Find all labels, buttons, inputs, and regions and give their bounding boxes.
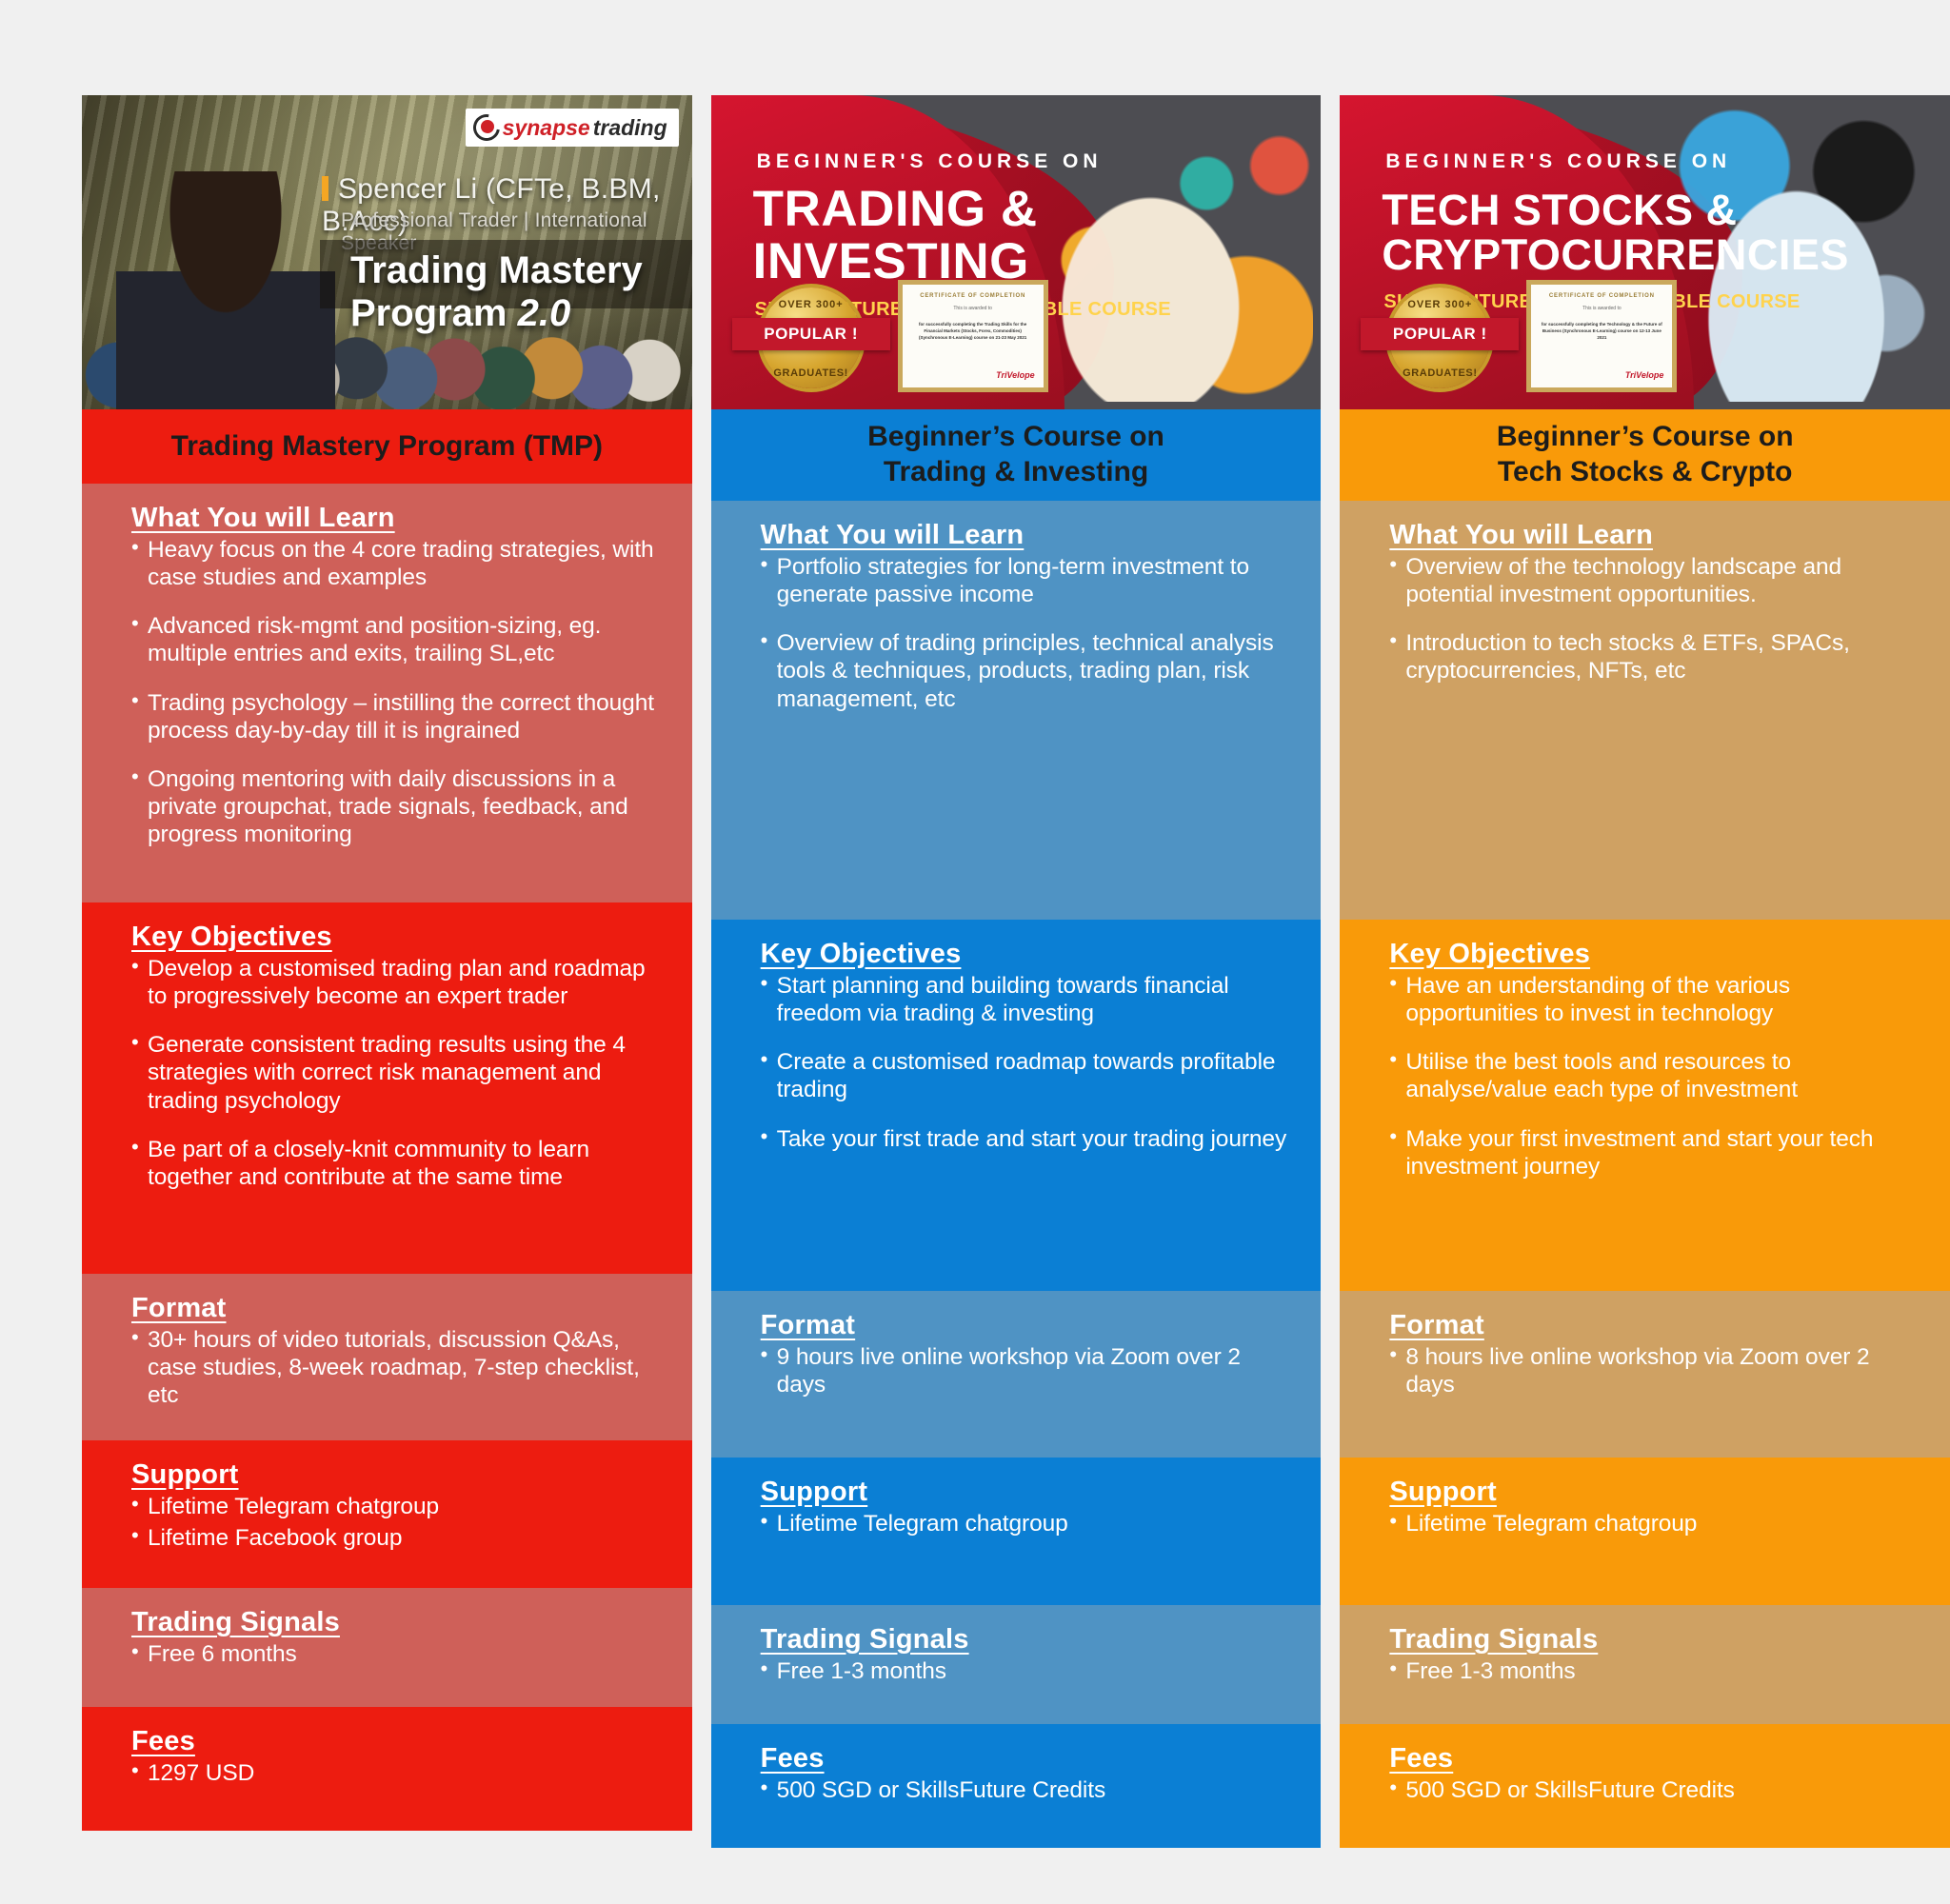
certificate-thumbnail: CERTIFICATE OF COMPLETIONThis is awarded…	[1526, 280, 1677, 392]
program-version: 2.0	[518, 292, 571, 334]
section-bullet-item: 500 SGD or SkillsFuture Credits	[761, 1776, 1293, 1804]
banner-heading-line-2: CRYPTOCURRENCIES	[1382, 233, 1849, 278]
certificate-body: for successfully completing the Technolo…	[1539, 322, 1664, 341]
section-heading: Trading Signals	[761, 1624, 1293, 1656]
section-heading: Trading Signals	[1389, 1624, 1921, 1656]
section-heading: Fees	[1389, 1743, 1921, 1775]
section-bullet-list: Lifetime Telegram chatgroupLifetime Face…	[131, 1493, 664, 1552]
section-fees: Fees500 SGD or SkillsFuture Credits	[711, 1724, 1322, 1848]
brand-logo-word-1: synapse	[503, 115, 590, 141]
section-what-you-will-learn: What You will LearnOverview of the techn…	[1340, 501, 1950, 920]
course-title-bar: Beginner’s Course onTech Stocks & Crypto	[1340, 409, 1950, 501]
section-bullet-item: Heavy focus on the 4 core trading strate…	[131, 536, 664, 591]
section-bullet-item: Lifetime Telegram chatgroup	[1389, 1510, 1921, 1537]
certificate-body: for successfully completing the Trading …	[910, 322, 1036, 341]
section-heading: Fees	[131, 1726, 664, 1757]
course-column-bcti: BEGINNER'S COURSE ONTRADING &INVESTINGSK…	[711, 95, 1322, 1848]
section-key-objectives: Key ObjectivesDevelop a customised tradi…	[82, 902, 692, 1274]
section-bullet-list: 500 SGD or SkillsFuture Credits	[1389, 1776, 1921, 1804]
course-title-text: Beginner’s Course onTrading & Investing	[867, 420, 1164, 489]
section-bullet-item: Free 6 months	[131, 1640, 664, 1668]
section-bullet-item: 8 hours live online workshop via Zoom ov…	[1389, 1343, 1921, 1398]
section-heading: Format	[1389, 1310, 1921, 1341]
section-bullet-item: Lifetime Facebook group	[131, 1524, 664, 1552]
course-banner-image: BEGINNER'S COURSE ONTECH STOCKS &CRYPTOC…	[1340, 95, 1950, 409]
banner-heading-line-1: TRADING &	[753, 183, 1038, 235]
course-title-text: Trading Mastery Program (TMP)	[171, 429, 603, 465]
section-support: SupportLifetime Telegram chatgroup	[711, 1458, 1322, 1605]
course-title-bar: Trading Mastery Program (TMP)	[82, 409, 692, 484]
section-bullet-list: Develop a customised trading plan and ro…	[131, 955, 664, 1191]
course-title-bar: Beginner’s Course onTrading & Investing	[711, 409, 1322, 501]
section-bullet-list: Heavy focus on the 4 core trading strate…	[131, 536, 664, 848]
course-banner-image: BEGINNER'S COURSE ONTRADING &INVESTINGSK…	[711, 95, 1322, 409]
section-heading: Format	[761, 1310, 1293, 1341]
section-bullet-list: 30+ hours of video tutorials, discussion…	[131, 1326, 664, 1409]
synapse-logo-icon	[473, 114, 500, 141]
course-column-tmp: Spencer Li (CFTe, B.BM, B.Acc)Profession…	[82, 95, 692, 1831]
section-bullet-list: Free 6 months	[131, 1640, 664, 1668]
section-bullet-item: Utilise the best tools and resources to …	[1389, 1048, 1921, 1103]
brand-logo: synapsetrading	[466, 109, 679, 147]
section-bullet-list: Lifetime Telegram chatgroup	[1389, 1510, 1921, 1537]
certificate-brand: TriVelope	[996, 370, 1035, 380]
section-bullet-item: Trading psychology – instilling the corr…	[131, 689, 664, 744]
section-key-objectives: Key ObjectivesHave an understanding of t…	[1340, 920, 1950, 1291]
badge-top-text: OVER 300+	[761, 299, 862, 310]
section-heading: What You will Learn	[761, 520, 1293, 551]
section-bullet-list: 8 hours live online workshop via Zoom ov…	[1389, 1343, 1921, 1398]
section-heading: What You will Learn	[1389, 520, 1921, 551]
section-bullet-list: Overview of the technology landscape and…	[1389, 553, 1921, 685]
badge-top-text: OVER 300+	[1389, 299, 1490, 310]
banner-heading-line-1: TECH STOCKS &	[1382, 188, 1849, 233]
banner-heading: TRADING &INVESTING	[753, 183, 1038, 288]
section-heading: Format	[131, 1293, 664, 1324]
section-trading-signals: Trading SignalsFree 1-3 months	[1340, 1605, 1950, 1724]
section-heading: Fees	[761, 1743, 1293, 1775]
badge-bottom-text: GRADUATES!	[761, 367, 862, 379]
speaker-photo	[116, 171, 335, 409]
certificate-awarded-line: This is awarded to	[1539, 306, 1664, 311]
section-bullet-list: Start planning and building towards fina…	[761, 972, 1293, 1153]
banner-heading: TECH STOCKS &CRYPTOCURRENCIES	[1382, 188, 1849, 278]
course-column-bctsc: BEGINNER'S COURSE ONTECH STOCKS &CRYPTOC…	[1340, 95, 1950, 1848]
section-bullet-item: Lifetime Telegram chatgroup	[761, 1510, 1293, 1537]
section-format: Format9 hours live online workshop via Z…	[711, 1291, 1322, 1458]
course-banner-image: Spencer Li (CFTe, B.BM, B.Acc)Profession…	[82, 95, 692, 409]
section-fees: Fees500 SGD or SkillsFuture Credits	[1340, 1724, 1950, 1848]
section-bullet-item: 30+ hours of video tutorials, discussion…	[131, 1326, 664, 1409]
section-heading: Key Objectives	[1389, 939, 1921, 970]
section-trading-signals: Trading SignalsFree 1-3 months	[711, 1605, 1322, 1724]
course-title-text: Beginner’s Course onTech Stocks & Crypto	[1497, 420, 1794, 489]
section-bullet-list: 9 hours live online workshop via Zoom ov…	[761, 1343, 1293, 1398]
section-bullet-list: Free 1-3 months	[761, 1657, 1293, 1685]
section-bullet-item: Create a customised roadmap towards prof…	[761, 1048, 1293, 1103]
section-bullet-item: Have an understanding of the various opp…	[1389, 972, 1921, 1027]
section-bullet-item: 9 hours live online workshop via Zoom ov…	[761, 1343, 1293, 1398]
program-title: Trading Mastery Program 2.0	[350, 249, 692, 335]
course-title-line-1: Beginner’s Course on	[867, 420, 1164, 455]
section-bullet-item: Overview of trading principles, technica…	[761, 629, 1293, 712]
popular-badge-ribbon: POPULAR !	[732, 318, 890, 350]
certificate-awarded-line: This is awarded to	[910, 306, 1036, 311]
section-heading: Support	[131, 1459, 664, 1491]
course-comparison-page: Spencer Li (CFTe, B.BM, B.Acc)Profession…	[0, 0, 1950, 1904]
section-bullet-item: Portfolio strategies for long-term inves…	[761, 553, 1293, 608]
section-what-you-will-learn: What You will LearnPortfolio strategies …	[711, 501, 1322, 920]
certificate-title: CERTIFICATE OF COMPLETION	[910, 293, 1036, 299]
banner-eyebrow: BEGINNER'S COURSE ON	[757, 150, 1103, 173]
section-heading: Support	[1389, 1477, 1921, 1508]
section-trading-signals: Trading SignalsFree 6 months	[82, 1588, 692, 1707]
section-bullet-item: 500 SGD or SkillsFuture Credits	[1389, 1776, 1921, 1804]
section-heading: Key Objectives	[131, 922, 664, 953]
section-format: Format30+ hours of video tutorials, disc…	[82, 1274, 692, 1440]
section-bullet-item: Develop a customised trading plan and ro…	[131, 955, 664, 1010]
certificate-brand: TriVelope	[1625, 370, 1664, 380]
course-title-line-2: Trading & Investing	[867, 455, 1164, 490]
popular-badge-ribbon: POPULAR !	[1361, 318, 1519, 350]
course-title-line-1: Beginner’s Course on	[1497, 420, 1794, 455]
section-bullet-item: Make your first investment and start you…	[1389, 1125, 1921, 1180]
section-key-objectives: Key ObjectivesStart planning and buildin…	[711, 920, 1322, 1291]
course-title-line-2: Tech Stocks & Crypto	[1497, 455, 1794, 490]
section-bullet-item: Free 1-3 months	[1389, 1657, 1921, 1685]
section-bullet-item: 1297 USD	[131, 1759, 664, 1787]
section-bullet-item: Generate consistent trading results usin…	[131, 1031, 664, 1114]
section-bullet-list: Lifetime Telegram chatgroup	[761, 1510, 1293, 1537]
section-bullet-item: Free 1-3 months	[761, 1657, 1293, 1685]
section-heading: What You will Learn	[131, 503, 664, 534]
accent-bar-icon	[322, 176, 328, 201]
section-bullet-item: Take your first trade and start your tra…	[761, 1125, 1293, 1153]
section-bullet-item: Advanced risk-mgmt and position-sizing, …	[131, 612, 664, 667]
section-bullet-item: Introduction to tech stocks & ETFs, SPAC…	[1389, 629, 1921, 684]
section-bullet-item: Ongoing mentoring with daily discussions…	[131, 765, 664, 848]
section-bullet-list: Have an understanding of the various opp…	[1389, 972, 1921, 1180]
section-heading: Support	[761, 1477, 1293, 1508]
section-format: Format8 hours live online workshop via Z…	[1340, 1291, 1950, 1458]
section-bullet-list: Free 1-3 months	[1389, 1657, 1921, 1685]
section-fees: Fees1297 USD	[82, 1707, 692, 1831]
section-bullet-list: 500 SGD or SkillsFuture Credits	[761, 1776, 1293, 1804]
course-title-line-1: Trading Mastery Program (TMP)	[171, 429, 603, 465]
brand-logo-word-2: trading	[593, 115, 667, 141]
section-heading: Trading Signals	[131, 1607, 664, 1638]
section-bullet-item: Lifetime Telegram chatgroup	[131, 1493, 664, 1520]
section-bullet-item: Overview of the technology landscape and…	[1389, 553, 1921, 608]
section-bullet-list: Portfolio strategies for long-term inves…	[761, 553, 1293, 713]
section-what-you-will-learn: What You will LearnHeavy focus on the 4 …	[82, 484, 692, 902]
section-bullet-item: Start planning and building towards fina…	[761, 972, 1293, 1027]
certificate-title: CERTIFICATE OF COMPLETION	[1539, 293, 1664, 299]
section-heading: Key Objectives	[761, 939, 1293, 970]
section-bullet-item: Be part of a closely-knit community to l…	[131, 1136, 664, 1191]
section-support: SupportLifetime Telegram chatgroup	[1340, 1458, 1950, 1605]
section-support: SupportLifetime Telegram chatgroupLifeti…	[82, 1440, 692, 1588]
section-bullet-list: 1297 USD	[131, 1759, 664, 1787]
badge-bottom-text: GRADUATES!	[1389, 367, 1490, 379]
certificate-thumbnail: CERTIFICATE OF COMPLETIONThis is awarded…	[898, 280, 1048, 392]
banner-eyebrow: BEGINNER'S COURSE ON	[1385, 150, 1731, 173]
